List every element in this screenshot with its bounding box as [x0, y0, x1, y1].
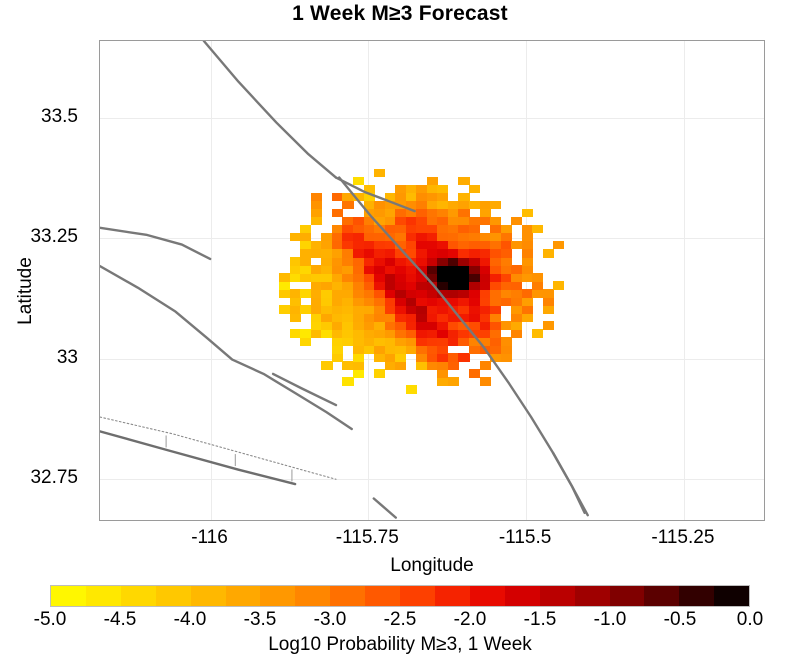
- colorbar-tick-label: -4.0: [174, 609, 207, 631]
- colorbar-band: [226, 586, 261, 606]
- colorbar-tick-label: -2.0: [454, 609, 487, 631]
- page-title: 1 Week M≥3 Forecast: [0, 2, 800, 26]
- colorbar-label: Log10 Probability M≥3, 1 Week: [0, 634, 800, 656]
- fault-unnamed-fault-se: [553, 453, 588, 515]
- fault-laguna-salada-fault: [273, 374, 336, 405]
- y-axis-ticks: 33.533.253332.75: [0, 40, 92, 521]
- colorbar-band: [260, 586, 295, 606]
- colorbar-band: [365, 586, 400, 606]
- y-axis-label: Latitude: [15, 221, 37, 361]
- y-tick-label: 32.75: [30, 467, 78, 489]
- x-tick-label: -115.75: [336, 527, 399, 549]
- colorbar-tick-label: -1.0: [594, 609, 627, 631]
- colorbar-band: [156, 586, 191, 606]
- colorbar-band: [714, 586, 749, 606]
- colorbar-gradient: [50, 585, 750, 607]
- colorbar-ticks: -5.0-4.5-4.0-3.5-3.0-2.5-2.0-1.5-1.0-0.5…: [50, 609, 750, 635]
- fault-san-andreas-branch: [336, 178, 415, 212]
- colorbar-tick-label: -2.5: [384, 609, 417, 631]
- forecast-map-plot[interactable]: [99, 40, 765, 521]
- fault-san-andreas-southern-trace: [204, 41, 336, 178]
- border-us-mexico-border-dotted: [100, 417, 336, 479]
- colorbar-tick-label: -3.0: [314, 609, 347, 631]
- colorbar-tick-label: -1.5: [524, 609, 557, 631]
- colorbar-band: [330, 586, 365, 606]
- colorbar-band: [505, 586, 540, 606]
- colorbar-band: [435, 586, 470, 606]
- colorbar-band: [610, 586, 645, 606]
- colorbar-band: [470, 586, 505, 606]
- colorbar-band: [191, 586, 226, 606]
- colorbar-tick-label: -4.5: [104, 609, 137, 631]
- x-tick-label: -115.25: [651, 527, 714, 549]
- x-tick-label: -116: [191, 527, 228, 549]
- colorbar-band: [400, 586, 435, 606]
- colorbar-tick-label: -0.5: [664, 609, 697, 631]
- fault-imperial-fault: [339, 178, 584, 513]
- y-tick-label: 33: [57, 347, 78, 369]
- colorbar-band: [86, 586, 121, 606]
- colorbar-band: [51, 586, 86, 606]
- colorbar-band: [644, 586, 679, 606]
- colorbar-band: [540, 586, 575, 606]
- x-axis-ticks: -116-115.75-115.5-115.25: [99, 527, 765, 553]
- colorbar[interactable]: [50, 585, 750, 607]
- colorbar-band: [121, 586, 156, 606]
- fault-unnamed-fault-sw: [374, 498, 396, 517]
- colorbar-tick-label: 0.0: [737, 609, 763, 631]
- fault-lines-overlay: [100, 41, 764, 520]
- x-tick-label: -115.5: [499, 527, 551, 549]
- y-tick-label: 33.5: [41, 106, 78, 128]
- fault-elsinore-coyote-creek-fault: [100, 266, 352, 429]
- colorbar-tick-label: -3.5: [244, 609, 277, 631]
- fault-superstition-hills-fault: [100, 228, 210, 259]
- colorbar-tick-label: -5.0: [34, 609, 67, 631]
- border-us-mexico-border-solid: [100, 431, 295, 484]
- colorbar-band: [295, 586, 330, 606]
- y-tick-label: 33.25: [30, 226, 78, 248]
- colorbar-band: [679, 586, 714, 606]
- x-axis-label: Longitude: [99, 555, 765, 577]
- colorbar-band: [575, 586, 610, 606]
